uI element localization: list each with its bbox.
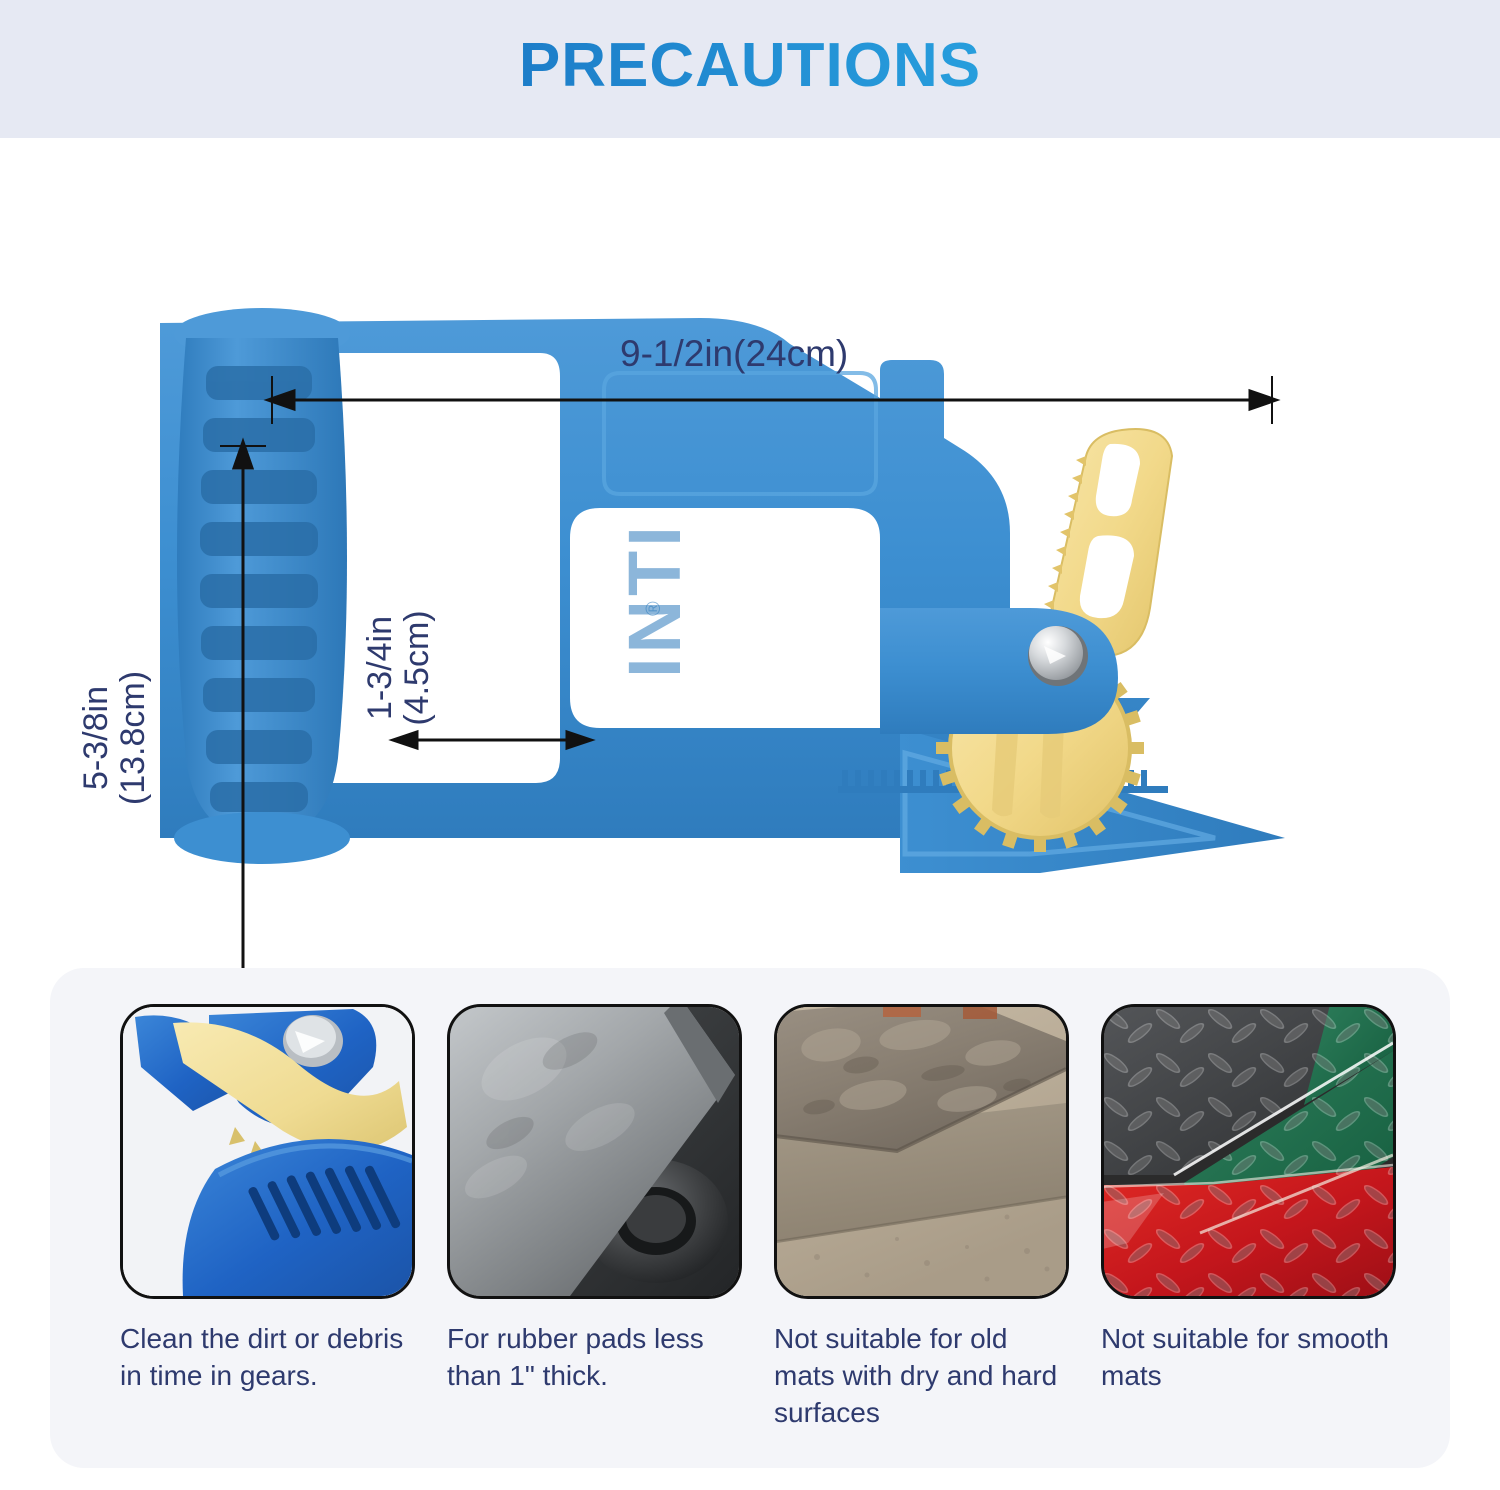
dimension-inner-line2: (4.5cm)	[399, 558, 436, 778]
dimension-inner-label: 1-3/4in (4.5cm)	[362, 558, 435, 778]
page-title: PRECAUTIONS	[0, 30, 1500, 101]
gear-closeup-art	[123, 1007, 412, 1296]
handle-bottom-cap	[174, 812, 350, 864]
product-dimension-diagram: INTI ®	[0, 138, 1500, 968]
handle-grip-slots	[200, 366, 318, 812]
precaution-card-list: Clean the dirt or debris in time in gear…	[120, 1004, 1410, 1432]
list-item-caption: Not suitable for smooth mats	[1101, 1321, 1396, 1395]
list-item[interactable]: Clean the dirt or debris in time in gear…	[120, 1004, 415, 1432]
diamond-plate-svg	[1104, 1007, 1393, 1296]
list-item[interactable]: For rubber pads less than 1" thick.	[447, 1004, 742, 1432]
tool-illustration: INTI ®	[0, 138, 1500, 968]
rubber-roll-art	[450, 1007, 739, 1296]
list-item-caption: Clean the dirt or debris in time in gear…	[120, 1321, 415, 1395]
dimension-height-label: 5-3/8in (13.8cm)	[78, 608, 151, 868]
list-item-caption: Not suitable for old mats with dry and h…	[774, 1321, 1069, 1432]
dimension-width-label: 9-1/2in(24cm)	[620, 334, 848, 374]
gear-closeup-svg	[123, 1007, 412, 1296]
rubber-roll-svg	[450, 1007, 739, 1296]
thumbnail-gear-closeup[interactable]	[120, 1004, 415, 1299]
old-mat-svg	[777, 1007, 1066, 1296]
embossed-logo: INTI	[613, 522, 696, 678]
thumbnail-old-mat[interactable]	[774, 1004, 1069, 1299]
registered-mark: ®	[643, 601, 665, 616]
list-item[interactable]: Not suitable for old mats with dry and h…	[774, 1004, 1069, 1432]
dimension-height-line2: (13.8cm)	[115, 608, 152, 868]
list-item-caption: For rubber pads less than 1" thick.	[447, 1321, 742, 1395]
dimension-height-line1: 5-3/8in	[78, 608, 115, 868]
thumbnail-rubber-roll[interactable]	[447, 1004, 742, 1299]
list-item[interactable]: Not suitable for smooth mats	[1101, 1004, 1396, 1432]
old-mat-art	[777, 1007, 1066, 1296]
diamond-plate-art	[1104, 1007, 1393, 1296]
precaution-cards-panel: Clean the dirt or debris in time in gear…	[50, 968, 1450, 1468]
dimension-inner-line1: 1-3/4in	[362, 558, 399, 778]
thumbnail-diamond-plate-mats[interactable]	[1101, 1004, 1396, 1299]
